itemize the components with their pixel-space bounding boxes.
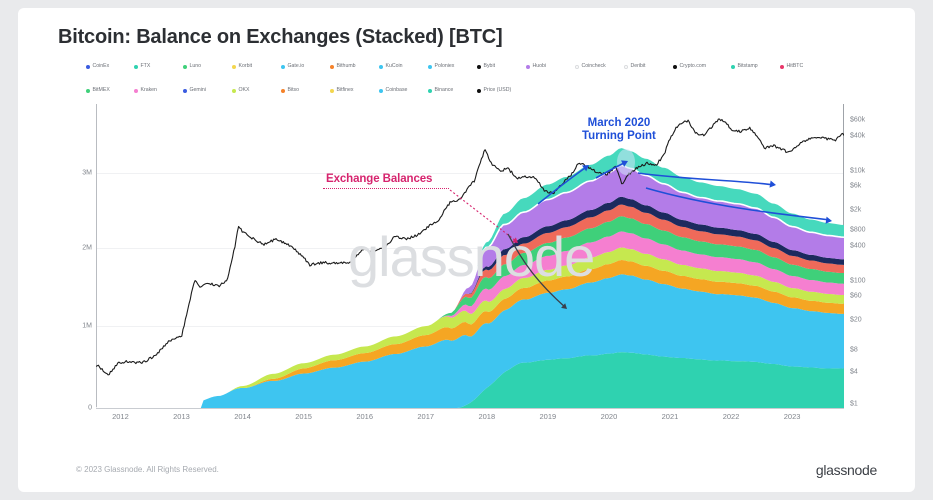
x-axis: 2012201320142015201620172018201920202021… — [96, 412, 844, 428]
legend-color-swatch — [232, 65, 236, 69]
glassnode-logo: glassnode — [816, 462, 877, 478]
legend-item-label: Crypto.com — [680, 64, 707, 69]
legend-item-coincheck[interactable]: Coincheck — [575, 64, 606, 69]
legend-color-swatch — [526, 65, 530, 69]
legend-item-label: BitMEX — [93, 88, 110, 93]
legend-item-kraken[interactable]: Kraken — [134, 88, 157, 93]
legend-row-1: CoinExFTXLunoKorbitGate.ioBithumbKuCoinP… — [86, 64, 846, 74]
y-axis-left-tick: 1M — [82, 323, 92, 330]
legend-item-kucoin[interactable]: KuCoin — [379, 64, 403, 69]
y-axis-right-tick: $20 — [850, 317, 862, 324]
x-axis-tick: 2018 — [478, 412, 495, 421]
y-axis-right-tick: $1 — [850, 401, 858, 408]
annotation-exchange-balances: Exchange Balances — [326, 173, 432, 185]
legend-color-swatch — [673, 65, 677, 69]
legend-color-swatch — [232, 89, 236, 93]
legend-item-label: Gemini — [190, 88, 206, 93]
legend-item-bithumb[interactable]: Bithumb — [330, 64, 356, 69]
legend-item-label: Bybit — [484, 64, 496, 69]
legend-item-label: Binance — [435, 88, 454, 93]
y-axis-right-tick: $100 — [850, 278, 866, 285]
annotation-turning-point-line2: Turning Point — [582, 130, 656, 142]
legend-item-label: Gate.io — [288, 64, 305, 69]
legend-color-swatch — [281, 89, 285, 93]
annotation-turning-point: March 2020 Turning Point — [582, 117, 656, 143]
y-axis-right-tick: $6k — [850, 183, 861, 190]
legend-item-label: Bithumb — [337, 64, 356, 69]
page-title: Bitcoin: Balance on Exchanges (Stacked) … — [58, 26, 502, 49]
y-axis-right-tick: $60k — [850, 117, 865, 124]
y-axis-right-tick: $10k — [850, 168, 865, 175]
footer-copyright: © 2023 Glassnode. All Rights Reserved. — [76, 465, 219, 474]
y-axis-left-tick: 3M — [82, 170, 92, 177]
annotation-turning-point-line1: March 2020 — [588, 117, 651, 129]
x-axis-tick: 2016 — [356, 412, 373, 421]
legend-item-label: Huobi — [533, 64, 547, 69]
legend-item-label: Deribit — [631, 64, 646, 69]
legend-color-swatch — [428, 65, 432, 69]
legend-item-coinex[interactable]: CoinEx — [86, 64, 109, 69]
y-axis-right-tick: $8 — [850, 347, 858, 354]
x-axis-baseline — [96, 408, 844, 409]
legend-item-label: FTX — [141, 64, 151, 69]
legend-item-label: Kraken — [141, 88, 157, 93]
legend-item-hitbtc[interactable]: HitBTC — [780, 64, 803, 69]
y-axis-right-tick: $400 — [850, 243, 866, 250]
legend-item-label: KuCoin — [386, 64, 403, 69]
annotation-exchange-underline — [323, 188, 449, 189]
x-axis-tick: 2021 — [662, 412, 679, 421]
y-axis-right-tick: $60 — [850, 293, 862, 300]
legend-item-binance[interactable]: Binance — [428, 88, 453, 93]
legend-item-bitso[interactable]: Bitso — [281, 88, 299, 93]
legend-item-korbit[interactable]: Korbit — [232, 64, 252, 69]
legend-item-gemini[interactable]: Gemini — [183, 88, 206, 93]
legend-color-swatch — [477, 65, 481, 69]
y-axis-right-tick: $40k — [850, 133, 865, 140]
legend-item-deribit[interactable]: Deribit — [624, 64, 646, 69]
legend-color-swatch — [86, 65, 90, 69]
legend-item-label: Luno — [190, 64, 202, 69]
legend-item-gate-io[interactable]: Gate.io — [281, 64, 304, 69]
legend-item-label: CoinEx — [93, 64, 110, 69]
legend-item-label: OKX — [239, 88, 250, 93]
x-axis-tick: 2012 — [112, 412, 129, 421]
y-axis-right-tick: $2k — [850, 207, 861, 214]
chart-card: Bitcoin: Balance on Exchanges (Stacked) … — [18, 8, 915, 492]
legend-item-crypto-com[interactable]: Crypto.com — [673, 64, 706, 69]
legend-item-coinbase[interactable]: Coinbase — [379, 88, 407, 93]
x-axis-tick: 2019 — [540, 412, 557, 421]
legend-color-swatch — [183, 65, 187, 69]
y-axis-left-tick: 0 — [88, 405, 92, 412]
legend-color-swatch — [183, 89, 187, 93]
x-axis-tick: 2017 — [417, 412, 434, 421]
legend-item-bitstamp[interactable]: Bitstamp — [731, 64, 758, 69]
legend-item-label: Poloniex — [435, 64, 455, 69]
legend-item-huobi[interactable]: Huobi — [526, 64, 546, 69]
legend-color-swatch — [281, 65, 285, 69]
x-axis-tick: 2014 — [234, 412, 251, 421]
legend-color-swatch — [428, 89, 432, 93]
legend-item-bitfinex[interactable]: Bitfinex — [330, 88, 354, 93]
legend-color-swatch — [134, 89, 138, 93]
legend-item-label: Coincheck — [582, 64, 606, 69]
legend-item-label: Bitfinex — [337, 88, 354, 93]
legend-item-label: Price (USD) — [484, 88, 512, 93]
legend-item-label: HitBTC — [787, 64, 804, 69]
x-axis-tick: 2015 — [295, 412, 312, 421]
chart-legend: CoinExFTXLunoKorbitGate.ioBithumbKuCoinP… — [86, 64, 846, 87]
stacked-area-plot — [96, 104, 844, 408]
legend-color-swatch — [731, 65, 735, 69]
legend-item-bybit[interactable]: Bybit — [477, 64, 495, 69]
x-axis-tick: 2023 — [784, 412, 801, 421]
legend-color-swatch — [780, 65, 784, 69]
legend-color-swatch — [379, 89, 383, 93]
legend-item-luno[interactable]: Luno — [183, 64, 201, 69]
y-axis-left-tick: 2M — [82, 245, 92, 252]
legend-item-price-usd[interactable]: Price (USD) — [477, 88, 511, 93]
legend-color-swatch — [379, 65, 383, 69]
y-axis-right-tick: $800 — [850, 227, 866, 234]
y-axis-left: 3M2M1M0 — [70, 104, 92, 408]
legend-item-label: Bitso — [288, 88, 300, 93]
legend-color-swatch — [330, 65, 334, 69]
x-axis-tick: 2020 — [601, 412, 618, 421]
y-axis-right-tick: $4 — [850, 369, 858, 376]
legend-color-swatch — [86, 89, 90, 93]
legend-item-label: Korbit — [239, 64, 253, 69]
legend-color-swatch — [575, 65, 579, 69]
y-axis-right-price: $60k$40k$10k$6k$2k$800$400$100$60$20$8$4… — [850, 104, 890, 408]
legend-color-swatch — [624, 65, 628, 69]
legend-color-swatch — [477, 89, 481, 93]
legend-item-label: Coinbase — [386, 88, 408, 93]
legend-item-bitmex[interactable]: BitMEX — [86, 88, 110, 93]
legend-item-label: Bitstamp — [738, 64, 758, 69]
legend-color-swatch — [330, 89, 334, 93]
legend-item-ftx[interactable]: FTX — [134, 64, 150, 69]
x-axis-tick: 2013 — [173, 412, 190, 421]
legend-item-okx[interactable]: OKX — [232, 88, 249, 93]
legend-item-poloniex[interactable]: Poloniex — [428, 64, 454, 69]
legend-row-2: BitMEXKrakenGeminiOKXBitsoBitfinexCoinba… — [86, 77, 846, 87]
x-axis-tick: 2022 — [723, 412, 740, 421]
legend-color-swatch — [134, 65, 138, 69]
